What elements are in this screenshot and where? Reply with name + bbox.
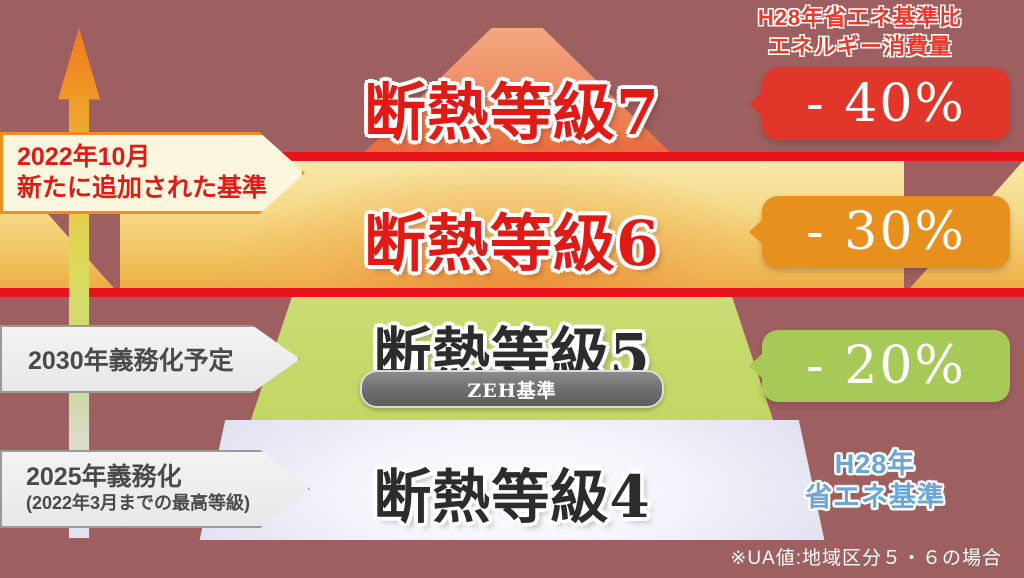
energy-consumption-header-line2: エネルギー消費量 [710,33,1010,62]
banner-mandatory-2030-line1: 2030年義務化予定 [28,341,298,377]
h28-standard-caption-line2: 省エネ基準 [760,481,990,514]
reduction-bubble-grade6: - 30% [762,196,1010,268]
h28-standard-caption: H28年 省エネ基準 [760,448,990,515]
reduction-bubble-grade7-value: - 40% [806,78,966,130]
banner-mandatory-2025: 2025年義務化 (2022年3月までの最高等級) [0,450,310,528]
reduction-bubble-grade6-value: - 30% [806,206,966,258]
reduction-bubble-grade6-pointer [749,219,763,245]
banner-mandatory-2025-line1: 2025年義務化 [26,463,308,493]
h28-standard-caption-line1: H28年 [760,448,990,481]
zeh-standard-badge-label: ZEH基準 [467,376,556,403]
reduction-bubble-grade5-value: - 20% [806,340,966,392]
zeh-standard-badge: ZEH基準 [360,370,664,408]
banner-new-standard-2022: 2022年10月 新たに追加された基準 [0,132,305,214]
infographic-canvas: 断熱等級7 断熱等級6 断熱等級5 ZEH基準 断熱等級4 2022年10月 新… [0,0,1024,578]
banner-mandatory-2030: 2030年義務化予定 [0,325,300,393]
reduction-bubble-grade5: - 20% [762,330,1010,402]
banner-mandatory-2025-line2: (2022年3月までの最高等級) [26,493,308,515]
energy-consumption-header: H28年省エネ基準比 エネルギー消費量 [710,4,1010,61]
reduction-bubble-grade7-pointer [749,91,763,117]
red-divider-lower [0,288,1024,297]
reduction-bubble-grade5-pointer [749,353,763,379]
banner-new-standard-2022-line2: 新たに追加された基準 [17,173,302,205]
reduction-bubble-grade7: - 40% [762,68,1010,140]
footnote-ua-value: ※UA値:地域区分５・６の場合 [730,543,1002,570]
banner-new-standard-2022-line1: 2022年10月 [17,142,302,174]
energy-consumption-header-line1: H28年省エネ基準比 [710,4,1010,33]
